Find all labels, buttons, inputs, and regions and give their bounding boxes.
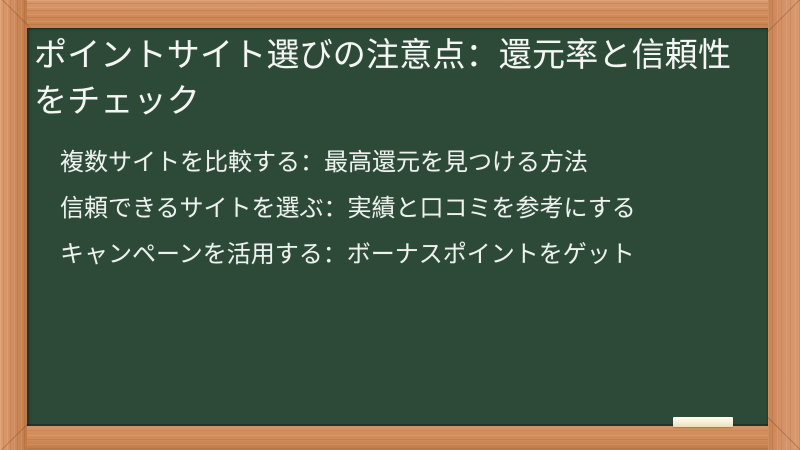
frame-left-rail xyxy=(0,0,27,450)
chalkboard-surface: ポイントサイト選びの注意点：還元率と信頼性をチェック 複数サイトを比較する：最高… xyxy=(27,28,768,426)
bullet-item-3: キャンペーンを活用する：ボーナスポイントをゲット xyxy=(60,237,760,271)
frame-top-rail xyxy=(0,0,800,28)
board-tray-shadow xyxy=(27,424,768,427)
chalk-stick-icon xyxy=(673,417,733,427)
bullet-item-2: 信頼できるサイトを選ぶ：実績と口コミを参考にする xyxy=(60,191,760,225)
frame-bottom-rail xyxy=(0,426,800,450)
frame-right-rail xyxy=(768,0,800,450)
chalkboard-content: ポイントサイト選びの注意点：還元率と信頼性をチェック 複数サイトを比較する：最高… xyxy=(27,28,768,426)
bullet-item-1: 複数サイトを比較する：最高還元を見つける方法 xyxy=(60,145,760,179)
chalkboard-slide: ポイントサイト選びの注意点：還元率と信頼性をチェック 複数サイトを比較する：最高… xyxy=(0,0,800,450)
slide-bullet-list: 複数サイトを比較する：最高還元を見つける方法 信頼できるサイトを選ぶ：実績と口コ… xyxy=(32,145,760,271)
slide-title: ポイントサイト選びの注意点：還元率と信頼性をチェック xyxy=(34,32,760,124)
